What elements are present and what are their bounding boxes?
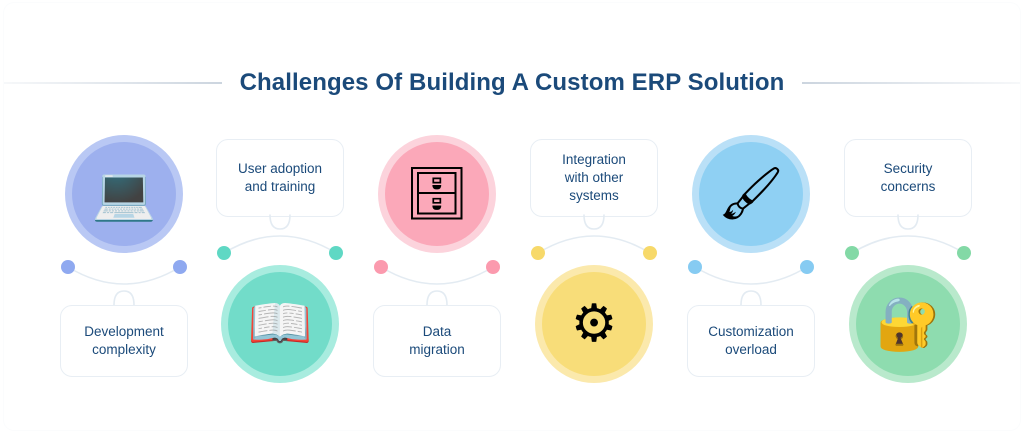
label-line: complexity — [84, 341, 164, 359]
connector-dot-right — [173, 260, 187, 274]
icon-circle-development-complexity: 💻 — [65, 135, 183, 253]
gear-icon: ⚙ — [571, 298, 618, 350]
label-line: with other — [562, 169, 626, 187]
icon-circle-customization-overload: 🖌 — [692, 135, 810, 253]
cluster-data-migration: 🗄Datamigration — [355, 135, 519, 385]
connector-dot-right — [486, 260, 500, 274]
label-box-integration-with-other-systems[interactable]: Integrationwith othersystems — [530, 139, 658, 217]
connector-dot-right — [957, 246, 971, 260]
icon-circle-data-migration: 🗄 — [378, 135, 496, 253]
connector-dot-right — [329, 246, 343, 260]
label-box-security-concerns[interactable]: Securityconcerns — [844, 139, 972, 217]
label-text: Securityconcerns — [881, 160, 936, 196]
title-rule-right — [802, 82, 1020, 84]
cluster-development-complexity: 💻Developmentcomplexity — [42, 135, 206, 385]
infographic-card: Challenges Of Building A Custom ERP Solu… — [4, 3, 1020, 430]
connector-data-migration — [367, 253, 507, 309]
open-book-icon: 📖 — [248, 298, 313, 350]
label-line: migration — [409, 341, 465, 359]
icon-circle-security-concerns: 🔐 — [849, 265, 967, 383]
label-box-development-complexity[interactable]: Developmentcomplexity — [60, 305, 188, 377]
label-line: Data — [409, 323, 465, 341]
icon-circle-core: 🗄 — [385, 142, 489, 246]
connector-customization-overload — [681, 253, 821, 309]
label-line: and training — [238, 178, 322, 196]
label-text: Datamigration — [409, 323, 465, 359]
label-line: systems — [562, 187, 626, 205]
connector-security-concerns — [838, 211, 978, 267]
connector-dot-left — [217, 246, 231, 260]
label-line: concerns — [881, 178, 936, 196]
connector-development-complexity — [54, 253, 194, 309]
icon-circle-core: 💻 — [72, 142, 176, 246]
icon-circle-integration-with-other-systems: ⚙ — [535, 265, 653, 383]
cluster-security-concerns: Securityconcerns🔐 — [826, 135, 990, 385]
label-line: Integration — [562, 151, 626, 169]
label-line: User adoption — [238, 160, 322, 178]
paintbrush-icon: 🖌 — [718, 168, 784, 220]
title-rule-left — [4, 82, 222, 84]
icon-circle-user-adoption-and-training: 📖 — [221, 265, 339, 383]
cluster-customization-overload: 🖌Customizationoverload — [669, 135, 833, 385]
connector-dot-left — [688, 260, 702, 274]
label-box-user-adoption-and-training[interactable]: User adoptionand training — [216, 139, 344, 217]
connector-dot-left — [374, 260, 388, 274]
connector-integration-with-other-systems — [524, 211, 664, 267]
connector-user-adoption-and-training — [210, 211, 350, 267]
label-box-data-migration[interactable]: Datamigration — [373, 305, 501, 377]
label-text: Developmentcomplexity — [84, 323, 164, 359]
icon-circle-core: 📖 — [228, 272, 332, 376]
infographic-page: Challenges Of Building A Custom ERP Solu… — [0, 0, 1024, 437]
connector-dot-right — [643, 246, 657, 260]
connector-dot-left — [845, 246, 859, 260]
locked-with-key-icon: 🔐 — [876, 298, 941, 350]
label-line: Development — [84, 323, 164, 341]
cluster-integration-with-other-systems: Integrationwith othersystems⚙ — [512, 135, 676, 385]
label-line: overload — [708, 341, 794, 359]
connector-dot-left — [531, 246, 545, 260]
page-title: Challenges Of Building A Custom ERP Solu… — [240, 69, 785, 97]
connector-dot-left — [61, 260, 75, 274]
label-box-customization-overload[interactable]: Customizationoverload — [687, 305, 815, 377]
label-line: Security — [881, 160, 936, 178]
icon-circle-core: ⚙ — [542, 272, 646, 376]
connector-dot-right — [800, 260, 814, 274]
title-row: Challenges Of Building A Custom ERP Solu… — [4, 65, 1020, 101]
label-text: Integrationwith othersystems — [562, 151, 626, 206]
icon-circle-core: 🔐 — [856, 272, 960, 376]
laptop-icon: 💻 — [92, 168, 157, 220]
icon-circle-core: 🖌 — [699, 142, 803, 246]
cluster-user-adoption-and-training: User adoptionand training📖 — [198, 135, 362, 385]
label-text: User adoptionand training — [238, 160, 322, 196]
label-text: Customizationoverload — [708, 323, 794, 359]
label-line: Customization — [708, 323, 794, 341]
file-cabinet-icon: 🗄 — [404, 168, 470, 220]
